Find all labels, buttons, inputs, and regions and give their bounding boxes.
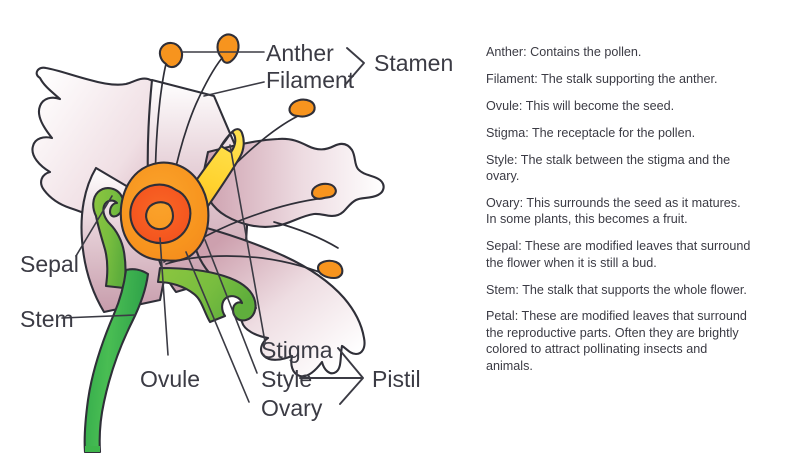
glossary-term: Petal: <box>486 309 518 323</box>
flower-anatomy-page: Anther Filament Sepal Stem Ovule Stigma … <box>0 0 800 467</box>
anther-5 <box>318 261 342 278</box>
glossary-definition: The stalk supporting the anther. <box>541 72 717 86</box>
glossary-term: Style: <box>486 153 518 167</box>
label-ovary: Ovary <box>261 395 323 421</box>
glossary-term: Ovary: <box>486 196 523 210</box>
glossary-definition: These are modified leaves that surround … <box>486 239 750 269</box>
glossary-definition: The stalk that supports the whole flower… <box>522 283 747 297</box>
glossary-definition: The receptacle for the pollen. <box>532 126 695 140</box>
glossary-term: Stem: <box>486 283 519 297</box>
anther-3 <box>289 100 314 117</box>
glossary-definition: This surrounds the seed as it matures. I… <box>486 196 741 226</box>
label-ovule: Ovule <box>140 366 200 392</box>
glossary-definition: These are modified leaves that surround … <box>486 309 747 372</box>
glossary-entry: Stem: The stalk that supports the whole … <box>486 282 754 298</box>
glossary-definition: Contains the pollen. <box>530 45 641 59</box>
glossary-definition: The stalk between the stigma and the ova… <box>486 153 730 183</box>
label-filament: Filament <box>266 67 355 93</box>
glossary-term: Ovule: <box>486 99 522 113</box>
label-anther: Anther <box>266 40 334 66</box>
glossary-entry: Style: The stalk between the stigma and … <box>486 152 754 185</box>
glossary-list: Anther: Contains the pollen. Filament: T… <box>486 0 800 467</box>
glossary-entry: Stigma: The receptacle for the pollen. <box>486 125 754 141</box>
glossary-term: Stigma: <box>486 126 529 140</box>
glossary-entry: Anther: Contains the pollen. <box>486 44 754 60</box>
label-sepal: Sepal <box>20 251 79 277</box>
flower-diagram: Anther Filament Sepal Stem Ovule Stigma … <box>0 0 478 467</box>
glossary-entry: Ovule: This will become the seed. <box>486 98 754 114</box>
anther-4 <box>312 184 336 199</box>
glossary-term: Anther: <box>486 45 527 59</box>
glossary-entry: Filament: The stalk supporting the anthe… <box>486 71 754 87</box>
glossary-entry: Ovary: This surrounds the seed as it mat… <box>486 195 754 228</box>
glossary-definition: This will become the seed. <box>526 99 674 113</box>
glossary-entry: Sepal: These are modified leaves that su… <box>486 238 754 271</box>
ovary-group <box>121 163 209 261</box>
label-stem: Stem <box>20 306 74 332</box>
glossary-term: Sepal: <box>486 239 522 253</box>
stem-base <box>85 446 100 452</box>
glossary-term: Filament: <box>486 72 538 86</box>
flower-illustration: Anther Filament Sepal Stem Ovule Stigma … <box>0 0 478 467</box>
label-stamen-group: Stamen <box>374 50 453 76</box>
petal-right-tip <box>274 222 338 248</box>
leader-filament <box>204 82 264 96</box>
label-stigma: Stigma <box>261 337 333 363</box>
label-pistil-group: Pistil <box>372 366 421 392</box>
glossary-entry: Petal: These are modified leaves that su… <box>486 308 754 374</box>
anther-1 <box>160 43 182 67</box>
label-style: Style <box>261 366 312 392</box>
